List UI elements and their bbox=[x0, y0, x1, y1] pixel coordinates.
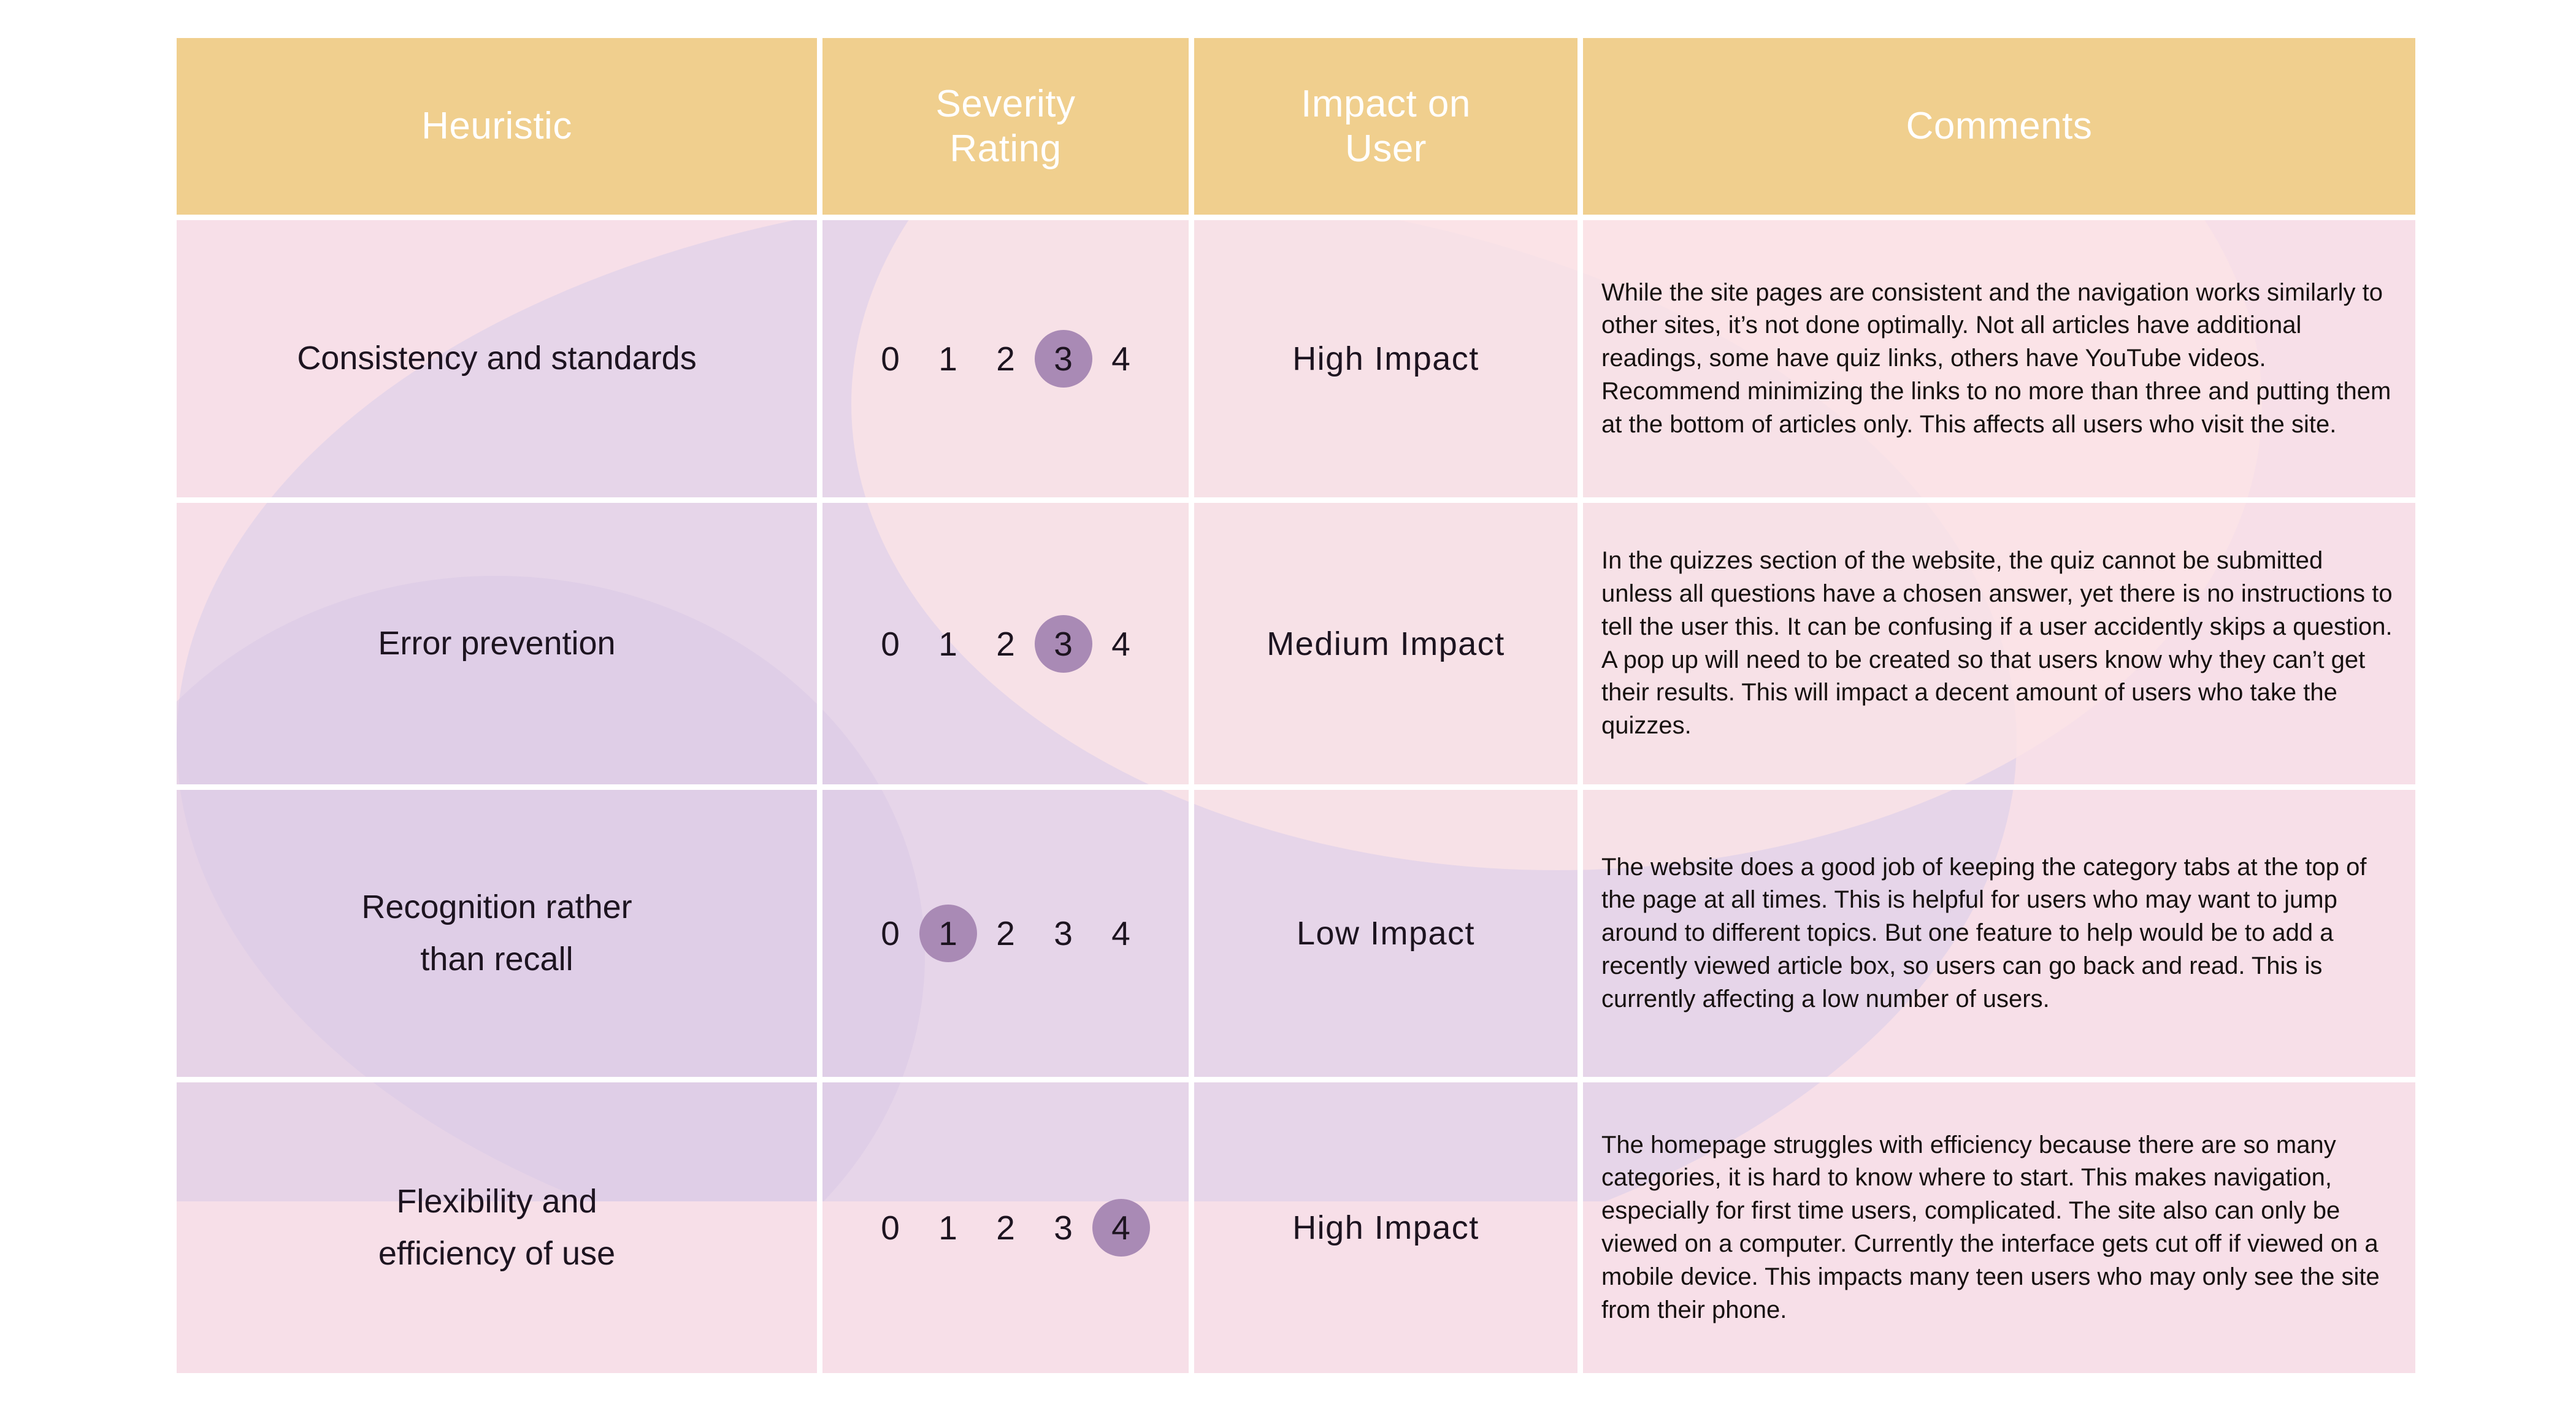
severity-option-0[interactable]: 0 bbox=[862, 330, 919, 388]
severity-option-1[interactable]: 1 bbox=[919, 330, 977, 388]
column-header-comments: Comments bbox=[1583, 38, 2415, 215]
comment-body: The website does a good job of keeping t… bbox=[1583, 848, 2415, 1020]
heuristic-name: Consistency and standards bbox=[177, 332, 817, 385]
background-blob-decoration bbox=[822, 1082, 1189, 1201]
cell-severity-rating: 0 1 2 3 4 bbox=[822, 220, 1189, 497]
severity-option-3[interactable]: 3 bbox=[1035, 615, 1092, 673]
cell-heuristic: Error prevention bbox=[177, 503, 817, 784]
column-header-severity-rating: Severity Rating bbox=[822, 38, 1189, 215]
severity-option-4[interactable]: 4 bbox=[1092, 615, 1150, 673]
severity-rating-scale[interactable]: 0 1 2 3 4 bbox=[822, 615, 1189, 673]
severity-option-4[interactable]: 4 bbox=[1092, 905, 1150, 962]
impact-header-line1: Impact on bbox=[1301, 83, 1471, 125]
heuristic-name: Recognition rather than recall bbox=[177, 881, 817, 986]
cell-severity-rating: 0 1 2 3 4 bbox=[822, 1082, 1189, 1373]
cell-severity-rating: 0 1 2 3 4 bbox=[822, 503, 1189, 784]
table-row: Consistency and standards 0 1 2 3 4 bbox=[177, 220, 2415, 497]
comment-body: In the quizzes section of the website, t… bbox=[1583, 541, 2415, 746]
column-header-severity-rating-label: Severity Rating bbox=[936, 82, 1076, 171]
severity-option-0[interactable]: 0 bbox=[862, 905, 919, 962]
cell-impact-on-user: High Impact bbox=[1194, 220, 1577, 497]
column-header-heuristic: Heuristic bbox=[177, 38, 817, 215]
heuristic-name-line1: Flexibility and bbox=[396, 1183, 597, 1220]
cell-heuristic: Flexibility and efficiency of use bbox=[177, 1082, 817, 1373]
heuristic-name: Error prevention bbox=[177, 618, 817, 670]
severity-option-2[interactable]: 2 bbox=[977, 615, 1035, 673]
table-row: Flexibility and efficiency of use 0 1 2 … bbox=[177, 1082, 2415, 1373]
table-row: Error prevention 0 1 2 3 4 bbox=[177, 503, 2415, 784]
cell-severity-rating: 0 1 2 3 4 bbox=[822, 790, 1189, 1077]
impact-header-line2: User bbox=[1345, 128, 1427, 170]
severity-option-0[interactable]: 0 bbox=[862, 615, 919, 673]
cell-impact-on-user: Low Impact bbox=[1194, 790, 1577, 1077]
severity-option-3[interactable]: 3 bbox=[1035, 1199, 1092, 1257]
severity-option-1[interactable]: 1 bbox=[919, 1199, 977, 1257]
heuristic-name-line1: Recognition rather bbox=[361, 889, 632, 925]
severity-header-line2: Rating bbox=[949, 128, 1061, 170]
column-header-heuristic-label: Heuristic bbox=[421, 104, 572, 148]
heuristic-name-line2: efficiency of use bbox=[378, 1235, 615, 1272]
severity-option-4[interactable]: 4 bbox=[1092, 1199, 1150, 1257]
severity-rating-scale[interactable]: 0 1 2 3 4 bbox=[822, 1199, 1189, 1257]
cell-impact-on-user: Medium Impact bbox=[1194, 503, 1577, 784]
heuristic-evaluation-table: Heuristic Severity Rating Impact on User… bbox=[177, 38, 2415, 1393]
heuristic-name: Flexibility and efficiency of use bbox=[177, 1176, 817, 1280]
cell-impact-on-user: High Impact bbox=[1194, 1082, 1577, 1373]
severity-option-4[interactable]: 4 bbox=[1092, 330, 1150, 388]
severity-option-0[interactable]: 0 bbox=[862, 1199, 919, 1257]
severity-option-1[interactable]: 1 bbox=[919, 905, 977, 962]
severity-option-2[interactable]: 2 bbox=[977, 905, 1035, 962]
comment-body: While the site pages are consistent and … bbox=[1583, 273, 2415, 445]
severity-option-3[interactable]: 3 bbox=[1035, 330, 1092, 388]
cell-comments: The website does a good job of keeping t… bbox=[1583, 790, 2415, 1077]
background-blob-decoration bbox=[1194, 1082, 1577, 1201]
column-header-comments-label: Comments bbox=[1906, 104, 2093, 148]
severity-option-1[interactable]: 1 bbox=[919, 615, 977, 673]
impact-value: High Impact bbox=[1194, 1209, 1577, 1247]
severity-header-line1: Severity bbox=[936, 83, 1076, 125]
comment-body: The homepage struggles with efficiency b… bbox=[1583, 1125, 2415, 1331]
table-header-row: Heuristic Severity Rating Impact on User… bbox=[177, 38, 2415, 215]
column-header-impact-on-user: Impact on User bbox=[1194, 38, 1577, 215]
column-header-impact-label: Impact on User bbox=[1301, 82, 1471, 171]
severity-option-3[interactable]: 3 bbox=[1035, 905, 1092, 962]
severity-option-2[interactable]: 2 bbox=[977, 330, 1035, 388]
severity-option-2[interactable]: 2 bbox=[977, 1199, 1035, 1257]
cell-comments: The homepage struggles with efficiency b… bbox=[1583, 1082, 2415, 1373]
impact-value: Medium Impact bbox=[1194, 625, 1577, 663]
cell-heuristic: Recognition rather than recall bbox=[177, 790, 817, 1077]
heuristic-name-line2: than recall bbox=[420, 941, 573, 978]
severity-rating-scale[interactable]: 0 1 2 3 4 bbox=[822, 905, 1189, 962]
table-row: Recognition rather than recall 0 1 2 3 4 bbox=[177, 790, 2415, 1077]
cell-heuristic: Consistency and standards bbox=[177, 220, 817, 497]
impact-value: High Impact bbox=[1194, 340, 1577, 378]
impact-value: Low Impact bbox=[1194, 914, 1577, 952]
cell-comments: While the site pages are consistent and … bbox=[1583, 220, 2415, 497]
cell-comments: In the quizzes section of the website, t… bbox=[1583, 503, 2415, 784]
severity-rating-scale[interactable]: 0 1 2 3 4 bbox=[822, 330, 1189, 388]
